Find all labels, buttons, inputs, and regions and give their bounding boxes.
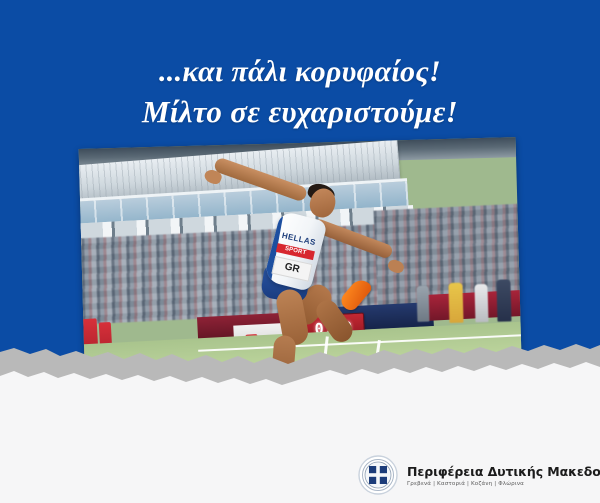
shoe-swoosh-icon	[271, 381, 293, 393]
social-media-card: ...και πάλι κορυφαίος! Μίλτο σε ευχαριστ…	[0, 0, 600, 503]
athlete-photo: 0:40 HELLAS SPORT GR	[79, 137, 523, 401]
athlete-leading-shoe	[261, 371, 305, 400]
headline-line-2: Μίλτο σε ευχαριστούμε!	[0, 92, 600, 132]
athlete-leading-arm	[213, 156, 309, 202]
regional-units-list: Γρεβενά | Καστοριά | Κοζάνη | Φλώρινα	[407, 481, 600, 487]
greek-coat-of-arms-icon	[358, 455, 398, 495]
athlete-figure: HELLAS SPORT GR	[79, 137, 523, 401]
footer-logo-text: Περιφέρεια Δυτικής Μακεδονίας Γρεβενά | …	[407, 464, 600, 487]
athlete-trailing-shoe	[338, 276, 374, 314]
footer-logo: Περιφέρεια Δυτικής Μακεδονίας Γρεβενά | …	[358, 455, 600, 495]
jersey-blue-stripe	[263, 215, 283, 292]
photo-content: 0:40 HELLAS SPORT GR	[79, 137, 523, 401]
athlete-trailing-hand	[386, 258, 405, 275]
jersey-bib-number: GR	[271, 256, 312, 282]
organization-name: Περιφέρεια Δυτικής Μακεδονίας	[407, 464, 600, 479]
headline: ...και πάλι κορυφαίος! Μίλτο σε ευχαριστ…	[0, 52, 600, 132]
athlete-jersey: HELLAS SPORT GR	[263, 210, 327, 292]
headline-line-1: ...και πάλι κορυφαίος!	[0, 52, 600, 92]
